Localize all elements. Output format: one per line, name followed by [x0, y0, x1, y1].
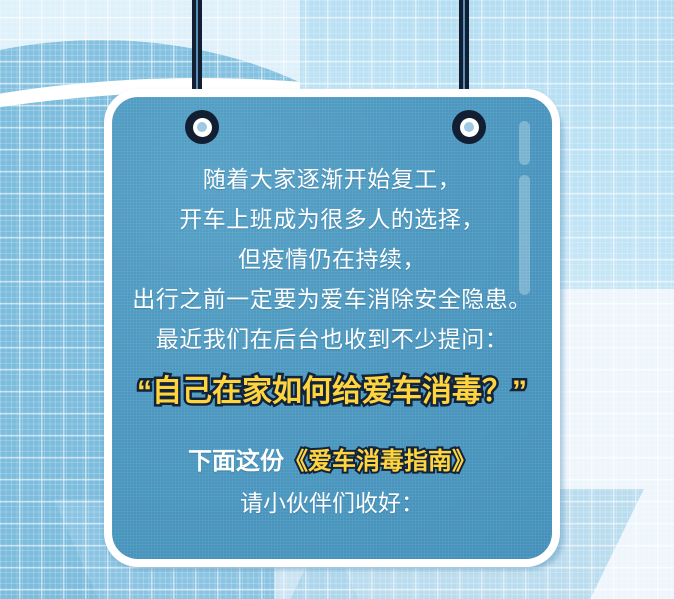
guide-subline-prefix: 下面这份: [188, 448, 284, 475]
spacer-before-headline: [128, 359, 536, 369]
intro-line-1: 随着大家逐渐开始复工，: [128, 159, 536, 199]
guide-subline: 下面这份《爱车消毒指南》: [128, 441, 536, 483]
guide-title-accent: 《爱车消毒指南》: [284, 448, 476, 475]
spacer-after-headline: [128, 415, 536, 441]
headline-question: “自己在家如何给爱车消毒？”: [128, 369, 536, 415]
intro-line-5: 最近我们在后台也收到不少提问：: [128, 319, 536, 359]
grommet-left: [185, 110, 219, 144]
intro-line-4: 出行之前一定要为爱车消除安全隐患。: [128, 279, 536, 319]
grommet-right: [452, 110, 486, 144]
intro-line-3: 但疫情仍在持续，: [128, 239, 536, 279]
poster-canvas: 随着大家逐渐开始复工， 开车上班成为很多人的选择， 但疫情仍在持续， 出行之前一…: [0, 0, 674, 599]
closing-line: 请小伙伴们收好：: [128, 483, 536, 523]
card-text-block: 随着大家逐渐开始复工， 开车上班成为很多人的选择， 但疫情仍在持续， 出行之前一…: [112, 159, 552, 523]
content-card: 随着大家逐渐开始复工， 开车上班成为很多人的选择， 但疫情仍在持续， 出行之前一…: [112, 97, 552, 559]
intro-line-2: 开车上班成为很多人的选择，: [128, 199, 536, 239]
